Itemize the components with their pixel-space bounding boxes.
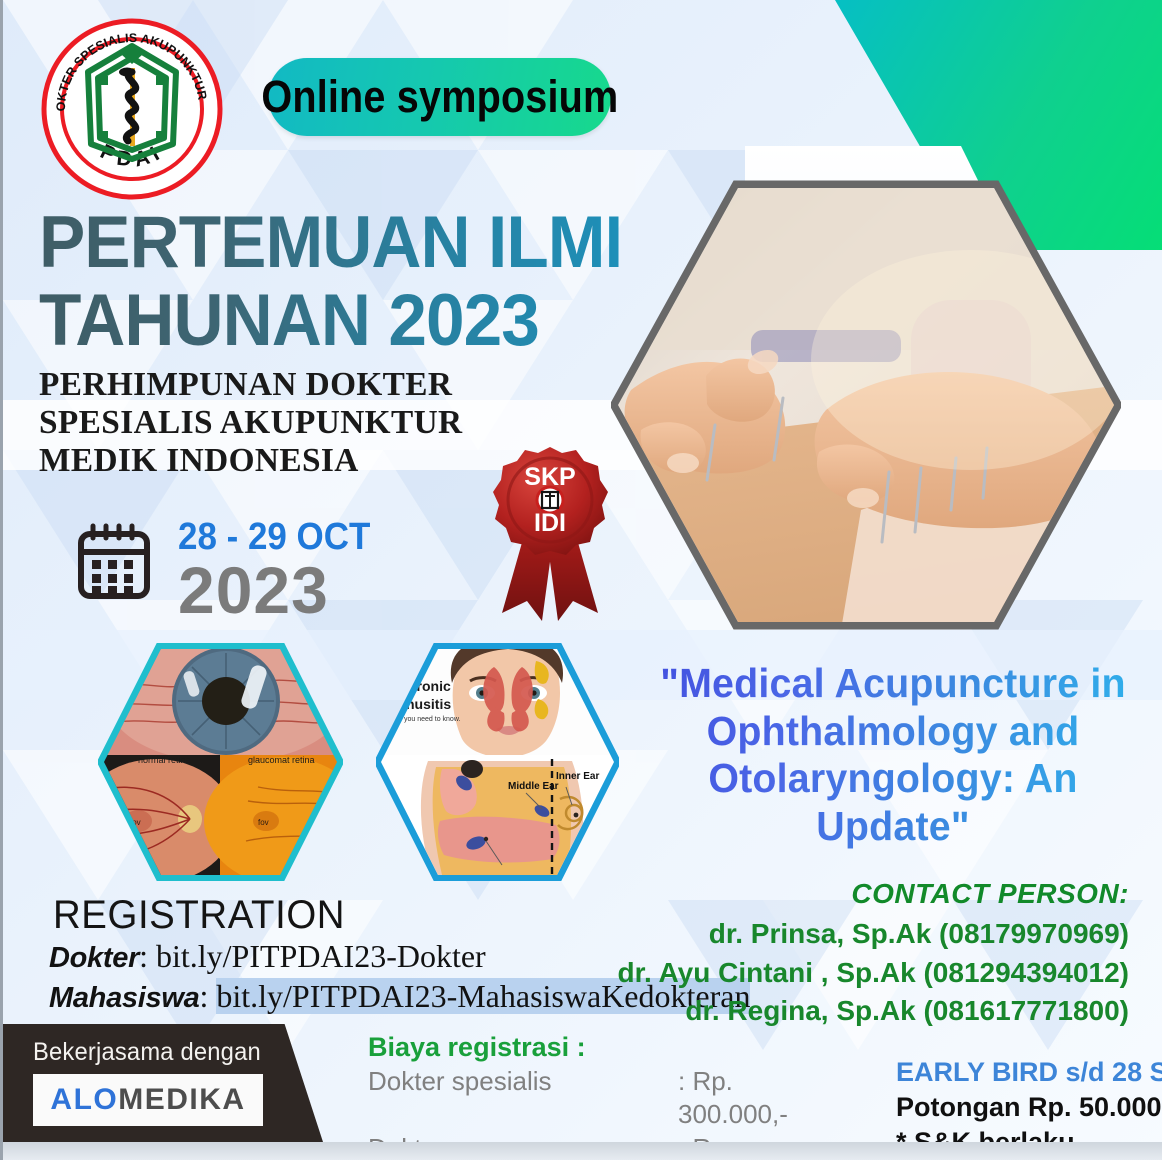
registration-label-mahasiswa: Mahasiswa xyxy=(49,982,199,1014)
registration-sep-dokter: : xyxy=(139,938,156,974)
ent-label-middle-ear: Middle Ear xyxy=(508,781,559,792)
hexagon-eye-retina-photo: normal retina glaucomat retina fov fov xyxy=(98,643,343,881)
fee-price-1: : Rp. 300.000,- xyxy=(678,1065,848,1132)
hexagon-acupuncture-photo xyxy=(611,180,1121,630)
poster-canvas: PERHIMPUNAN DOKTER SPESIALIS AKUPUNKTUR … xyxy=(0,0,1162,1160)
contact-person-2: dr. Ayu Cintani , Sp.Ak (081294394012) xyxy=(609,954,1129,993)
bottom-strip xyxy=(3,1142,1162,1160)
subtitle-line-1: PERHIMPUNAN DOKTER xyxy=(39,366,588,404)
contact-person-3: dr. Regina, Sp.Ak (081617771800) xyxy=(609,992,1129,1031)
theme-line-2: Ophthalmology and xyxy=(653,708,1133,756)
registration-label-dokter: Dokter xyxy=(49,942,139,974)
subtitle-line-2: SPESIALIS AKUPUNKTUR xyxy=(39,404,588,442)
online-symposium-badge: Online symposium xyxy=(268,58,611,136)
hexagon-ent-anatomy-photo: hronic nusitis you need to know. xyxy=(376,643,619,881)
registration-heading: REGISTRATION xyxy=(53,893,345,938)
alomedika-part-1: ALO xyxy=(50,1083,118,1117)
page-title: PERTEMUAN ILMIAH TAHUNAN 2023 xyxy=(39,208,649,356)
fee-label-1: Dokter spesialis xyxy=(368,1065,678,1132)
alomedika-part-2: MEDIKA xyxy=(118,1083,245,1117)
online-symposium-label: Online symposium xyxy=(261,71,618,123)
fee-table-title: Biaya registrasi : xyxy=(368,1032,848,1063)
ent-caption-3: you need to know. xyxy=(404,716,460,723)
title-line-1: PERTEMUAN ILMIAH xyxy=(39,208,619,278)
contact-block: CONTACT PERSON: dr. Prinsa, Sp.Ak (08179… xyxy=(609,878,1129,1031)
registration-link-dokter[interactable]: bit.ly/PITPDAI23-Dokter xyxy=(156,938,486,974)
eye-label-left: normal retina xyxy=(138,755,191,765)
seal-bottom-label: IDI xyxy=(534,509,566,537)
eye-label-right: glaucomat retina xyxy=(248,755,315,765)
pdai-logo: PERHIMPUNAN DOKTER SPESIALIS AKUPUNKTUR … xyxy=(39,16,225,202)
contact-title: CONTACT PERSON: xyxy=(609,878,1129,910)
registration-row-dokter: Dokter: bit.ly/PITPDAI23-Dokter xyxy=(49,938,486,975)
title-line-2: TAHUNAN 2023 xyxy=(39,286,619,356)
table-row: Dokter spesialis : Rp. 300.000,- xyxy=(368,1065,848,1132)
fee-table: Biaya registrasi : Dokter spesialis : Rp… xyxy=(368,1032,848,1160)
partner-label: Bekerjasama dengan xyxy=(33,1038,261,1067)
event-theme: "Medical Acupuncture in Ophthalmology an… xyxy=(653,660,1133,850)
event-year: 2023 xyxy=(178,552,329,628)
alomedika-logo: ALOMEDIKA xyxy=(33,1074,263,1126)
calendar-icon xyxy=(76,522,152,602)
skp-idi-seal: SKP IDI xyxy=(490,443,610,628)
ent-label-inner-ear: Inner Ear xyxy=(556,771,599,782)
eye-fov-label-right: fov xyxy=(258,818,269,827)
theme-line-3: Otolaryngology: An Update" xyxy=(653,755,1133,850)
theme-line-1: "Medical Acupuncture in xyxy=(653,660,1133,708)
registration-sep-mahasiswa: : xyxy=(199,978,216,1014)
partner-banner: Bekerjasama dengan ALOMEDIKA xyxy=(3,1024,323,1142)
early-bird-title: EARLY BIRD s/d 28 Sept: xyxy=(896,1055,1156,1090)
early-bird-discount: Potongan Rp. 50.000,- xyxy=(896,1090,1156,1125)
contact-person-1: dr. Prinsa, Sp.Ak (08179970969) xyxy=(609,915,1129,954)
